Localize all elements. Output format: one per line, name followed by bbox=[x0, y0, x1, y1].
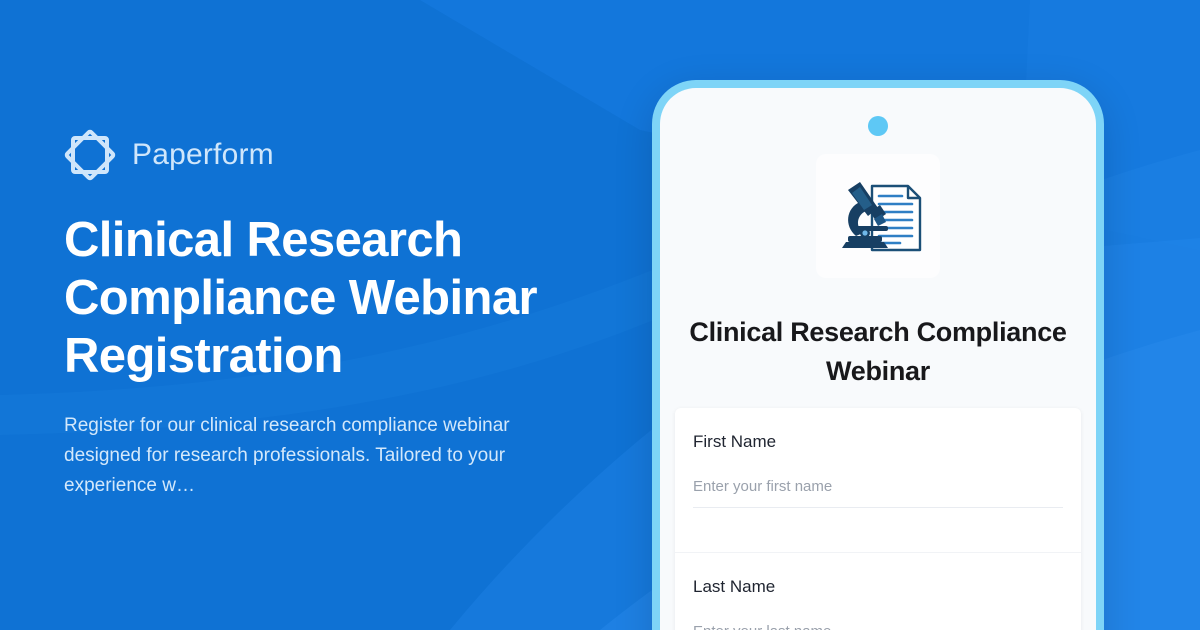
form-title: Clinical Research Compliance Webinar bbox=[660, 313, 1096, 391]
first-name-input[interactable]: Enter your first name bbox=[693, 478, 1063, 508]
field-spacer bbox=[693, 508, 1063, 530]
phone-mockup: Clinical Research Compliance Webinar Fir… bbox=[652, 80, 1104, 630]
microscope-document-icon bbox=[816, 154, 940, 278]
og-preview-card: Paperform Clinical Research Compliance W… bbox=[0, 0, 1200, 630]
last-name-input[interactable]: Enter your last name bbox=[693, 623, 1063, 630]
camera-dot-icon bbox=[868, 116, 888, 136]
registration-form: First Name Enter your first name Last Na… bbox=[675, 408, 1081, 630]
brand-name: Paperform bbox=[132, 138, 274, 172]
hero-content: Paperform Clinical Research Compliance W… bbox=[64, 0, 604, 630]
brand-lockup: Paperform bbox=[64, 129, 604, 181]
page-title: Clinical Research Compliance Webinar Reg… bbox=[64, 211, 584, 385]
first-name-label: First Name bbox=[693, 432, 1063, 452]
paperform-logo-icon bbox=[64, 129, 116, 181]
last-name-label: Last Name bbox=[693, 577, 1063, 597]
form-field-last-name: Last Name Enter your last name bbox=[675, 552, 1081, 630]
form-field-first-name: First Name Enter your first name bbox=[675, 408, 1081, 530]
page-description: Register for our clinical research compl… bbox=[64, 411, 514, 501]
